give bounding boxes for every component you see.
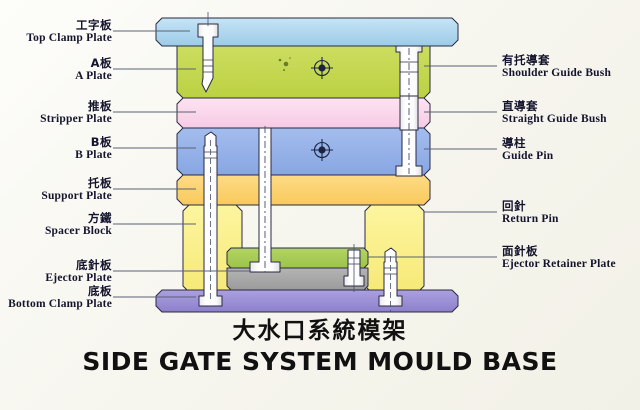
label-cn: 面針板 [502, 245, 616, 258]
label-en: Support Plate [0, 190, 112, 203]
label-en: Stripper Plate [0, 113, 112, 126]
plate-ejector-retainer [227, 248, 368, 268]
label-cn: 直導套 [502, 100, 607, 113]
label-cn: 底針板 [0, 259, 112, 272]
label-spacer-block: 方鐵 Spacer Block [0, 212, 112, 238]
label-cn: 推板 [0, 100, 112, 113]
label-ejector-retainer-plate: 面針板 Ejector Retainer Plate [502, 245, 616, 271]
label-ejector-plate: 底針板 Ejector Plate [0, 259, 112, 285]
title-cn: 大水口系統模架 [0, 316, 640, 346]
label-straight-guide-bush: 直導套 Straight Guide Bush [502, 100, 607, 126]
title-en: SIDE GATE SYSTEM MOULD BASE [0, 346, 640, 378]
label-cn: 工字板 [0, 19, 112, 32]
label-top-clamp-plate: 工字板 Top Clamp Plate [0, 19, 112, 45]
label-en: Ejector Retainer Plate [502, 258, 616, 271]
label-en: Shoulder Guide Bush [502, 67, 611, 80]
label-return-pin: 回針 Return Pin [502, 200, 559, 226]
label-en: Bottom Clamp Plate [0, 298, 112, 311]
label-en: Guide Pin [502, 150, 553, 163]
label-en: Top Clamp Plate [0, 32, 112, 45]
label-stripper-plate: 推板 Stripper Plate [0, 100, 112, 126]
label-cn: 底板 [0, 285, 112, 298]
label-a-plate: A板 A Plate [0, 57, 112, 83]
label-en: Spacer Block [0, 225, 112, 238]
label-cn: 方鐵 [0, 212, 112, 225]
diagram-title: 大水口系統模架 SIDE GATE SYSTEM MOULD BASE [0, 316, 640, 378]
label-en: Return Pin [502, 213, 559, 226]
label-guide-pin: 導柱 Guide Pin [502, 137, 553, 163]
label-cn: A板 [0, 57, 112, 70]
label-cn: 托板 [0, 177, 112, 190]
label-en: Straight Guide Bush [502, 113, 607, 126]
label-shoulder-guide-bush: 有托導套 Shoulder Guide Bush [502, 54, 611, 80]
plate-stripper [177, 98, 430, 128]
label-cn: 導柱 [502, 137, 553, 150]
label-b-plate: B板 B Plate [0, 136, 112, 162]
plate-a [177, 46, 430, 98]
label-en: B Plate [0, 149, 112, 162]
label-cn: 回針 [502, 200, 559, 213]
label-support-plate: 托板 Support Plate [0, 177, 112, 203]
label-en: A Plate [0, 70, 112, 83]
label-cn: B板 [0, 136, 112, 149]
label-cn: 有托導套 [502, 54, 611, 67]
label-bottom-clamp-plate: 底板 Bottom Clamp Plate [0, 285, 112, 311]
